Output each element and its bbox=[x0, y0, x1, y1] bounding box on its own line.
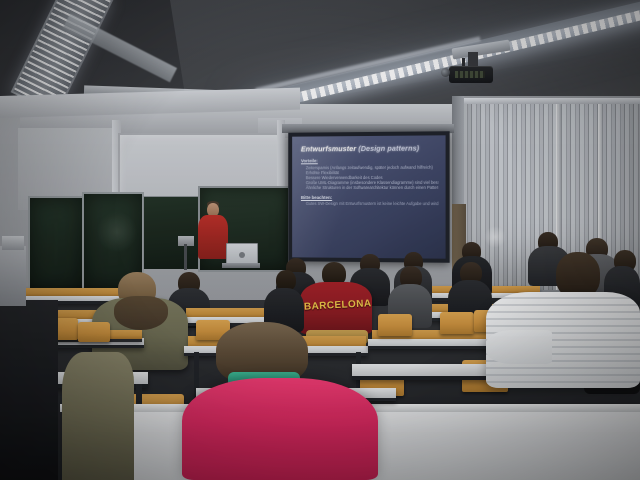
student-barcelona-jersey: BARCELONA bbox=[300, 282, 372, 334]
slide-title: Entwurfsmuster (Design patterns) bbox=[301, 143, 439, 153]
slide-section-2-list: Gutes SW-Design mit Entwurfsmustern ist … bbox=[301, 201, 439, 206]
jersey-text: BARCELONA bbox=[304, 298, 370, 312]
lectern-pole bbox=[184, 244, 187, 270]
slide-content: Entwurfsmuster (Design patterns) Vorteil… bbox=[301, 143, 439, 254]
projected-slide: Entwurfsmuster (Design patterns) Vorteil… bbox=[292, 135, 445, 258]
projector-icon bbox=[449, 66, 493, 83]
student-arm bbox=[486, 330, 552, 364]
laptop-logo-icon bbox=[239, 252, 245, 258]
presenter-body bbox=[198, 215, 228, 259]
chair[interactable] bbox=[78, 322, 110, 342]
hoodie-hood bbox=[114, 296, 168, 330]
student-pink-sweater bbox=[182, 378, 378, 480]
slide-section-1-list: Zeitersparnis (Anfangs zeitaufwendig, sp… bbox=[301, 164, 439, 190]
equipment-top bbox=[2, 236, 24, 250]
projector-vent bbox=[455, 71, 485, 78]
chalkboard-left-a bbox=[28, 196, 84, 292]
chair[interactable] bbox=[378, 314, 412, 336]
chalkboard-reflection bbox=[96, 212, 138, 252]
slide-bullet: Ähnliche Strukturen in der Softwarearchi… bbox=[306, 185, 439, 190]
window-light-glow bbox=[484, 226, 506, 248]
slide-bullet: Gutes SW-Design mit Entwurfsmustern ist … bbox=[306, 201, 439, 206]
chair[interactable] bbox=[440, 312, 474, 334]
projector-lens-icon bbox=[441, 68, 450, 77]
foreground-dark-figure bbox=[0, 300, 58, 480]
slide-bullet: Zeitersparnis (Anfangs zeitaufwendig, sp… bbox=[306, 164, 439, 170]
slide-section-2-heading: Bitte beachten: bbox=[301, 194, 439, 199]
lecture-hall-photo: Entwurfsmuster (Design patterns) Vorteil… bbox=[0, 0, 640, 480]
slide-title-main: Entwurfsmuster bbox=[301, 144, 356, 153]
projection-screen: Entwurfsmuster (Design patterns) Vorteil… bbox=[288, 131, 449, 263]
equipment-cabinet bbox=[0, 246, 26, 306]
slide-section-1-heading: Vorteile: bbox=[301, 158, 439, 164]
chalkboard-front-left bbox=[143, 196, 200, 269]
presenter-laptop-base bbox=[222, 263, 260, 268]
slide-title-paren: (Design patterns) bbox=[358, 144, 419, 153]
student-khaki-foreground bbox=[62, 352, 134, 480]
